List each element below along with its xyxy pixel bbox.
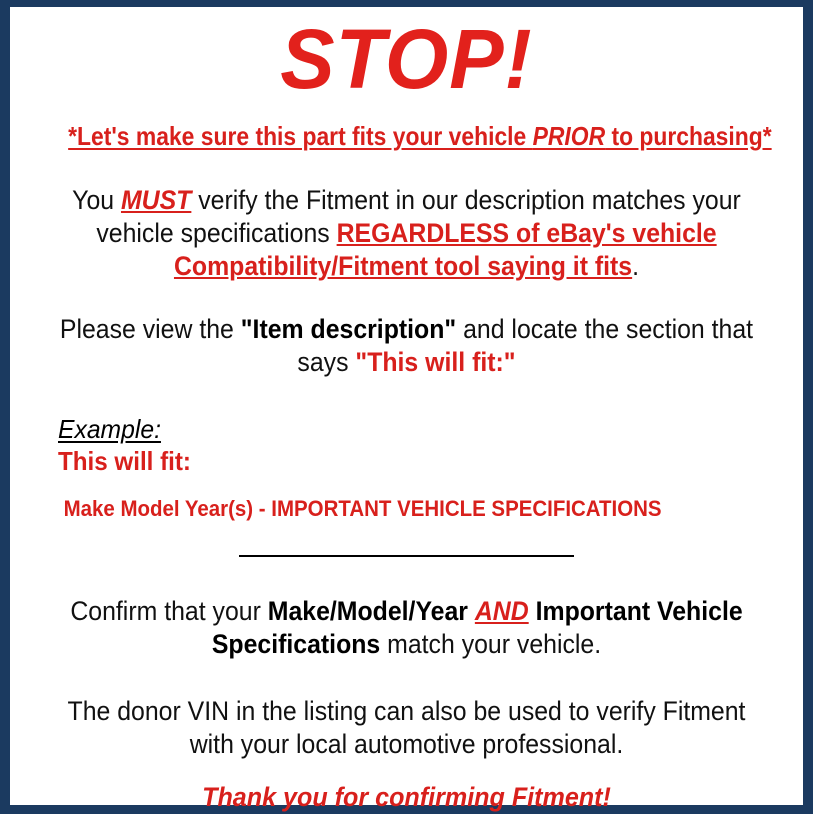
desc-seg-1: Please view the — [60, 314, 241, 344]
example-label-row: Example: — [58, 414, 791, 444]
horizontal-divider — [239, 555, 574, 557]
subtitle-line: *Let's make sure this part fits your veh… — [68, 107, 745, 151]
confirm-space-2 — [529, 596, 536, 626]
subtitle-text-before: *Let's make sure this part fits your veh… — [68, 121, 532, 151]
stop-title: STOP! — [34, 7, 780, 107]
make-model-year-emphasis: Make/Model/Year — [268, 596, 468, 626]
paragraph-item-description: Please view the "Item description" and l… — [53, 283, 760, 379]
this-will-fit-quote: "This will fit:" — [355, 347, 515, 377]
example-label: Example: — [58, 414, 161, 444]
item-description-emphasis: "Item description" — [241, 314, 456, 344]
subtitle-text-after: to purchasing* — [605, 121, 772, 151]
must-seg-3: . — [632, 251, 639, 281]
notice-body: STOP! *Let's make sure this part fits yo… — [10, 7, 803, 805]
paragraph-donor-vin: The donor VIN in the listing can also be… — [53, 661, 760, 761]
paragraph-must-verify: You MUST verify the Fitment in our descr… — [53, 151, 760, 283]
fitment-notice-card: STOP! *Let's make sure this part fits yo… — [0, 0, 813, 814]
subtitle-prior-emphasis: PRIOR — [533, 121, 605, 151]
confirm-seg-1: Confirm that your — [70, 596, 267, 626]
must-seg-1: You — [72, 185, 121, 215]
must-emphasis: MUST — [121, 185, 191, 215]
thanks-line: Thank you for confirming Fitment! — [49, 761, 764, 813]
divider-wrap — [22, 522, 791, 565]
confirm-space-1 — [468, 596, 475, 626]
confirm-seg-2: match your vehicle. — [380, 629, 601, 659]
example-fit-heading: This will fit: — [58, 444, 740, 476]
and-emphasis: AND — [475, 596, 529, 626]
example-spec-line: Make Model Year(s) - IMPORTANT VEHICLE S… — [58, 476, 740, 522]
example-block: Example: This will fit: Make Model Year(… — [22, 379, 791, 522]
paragraph-confirm: Confirm that your Make/Model/Year AND Im… — [53, 565, 760, 661]
